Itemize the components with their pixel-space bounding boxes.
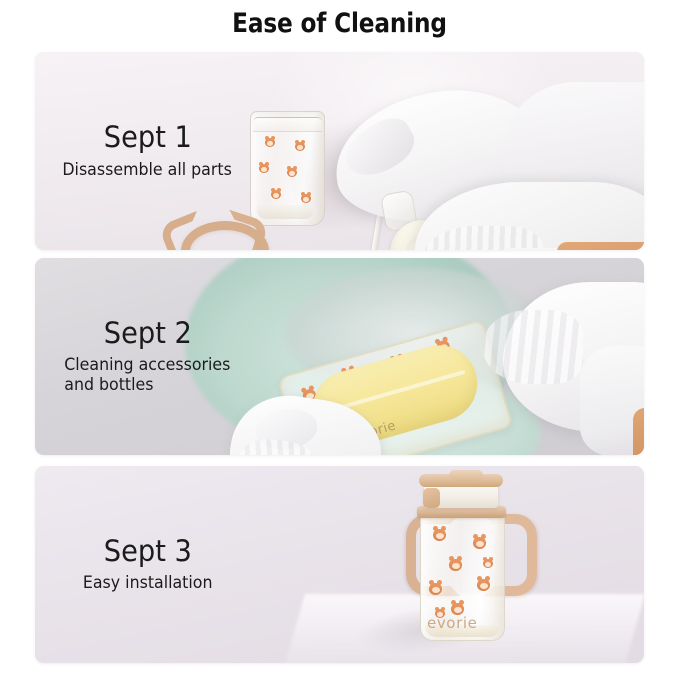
- skin-forearm: [633, 408, 644, 455]
- page-title: Ease of Cleaning: [48, 8, 632, 39]
- skin-forearm: [557, 242, 644, 250]
- handle-ring-icon: [165, 217, 261, 250]
- step-panel-2[interactable]: evorie Sept 2 Cleaning accessories and b…: [35, 258, 644, 455]
- cap-button-icon: [423, 488, 440, 508]
- step-panel-3[interactable]: evorie Sept 3 Easy installation: [35, 466, 644, 663]
- bottle-body-icon: [250, 111, 325, 226]
- step-panel-1[interactable]: Sept 1 Disassemble all parts: [35, 52, 644, 250]
- cap-tab-icon: [449, 470, 483, 481]
- brand-label-3: evorie: [427, 614, 477, 632]
